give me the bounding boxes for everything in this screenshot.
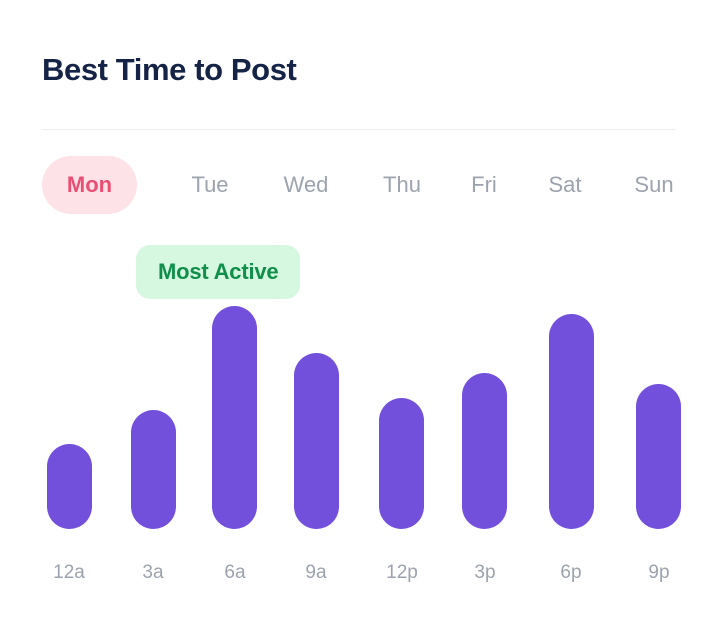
x-tick-6p: 6p: [536, 562, 606, 584]
bar-12p[interactable]: [379, 398, 424, 529]
bar-6p[interactable]: [549, 314, 594, 529]
bar-3p[interactable]: [462, 373, 507, 529]
x-tick-9a: 9a: [281, 562, 351, 584]
best-time-to-post-card: Best Time to Post Mon Tue Wed Thu Fri Sa…: [4, 4, 711, 634]
x-tick-6a: 6a: [200, 562, 270, 584]
best-time-bar-chart: 12a 3a 6a 9a 12p 3p 6p 9p: [4, 4, 711, 634]
x-tick-3p: 3p: [450, 562, 520, 584]
x-tick-12a: 12a: [34, 562, 104, 584]
bar-9p[interactable]: [636, 384, 681, 529]
bar-9a[interactable]: [294, 353, 339, 529]
bar-12a[interactable]: [47, 444, 92, 529]
bar-3a[interactable]: [131, 410, 176, 529]
x-tick-12p: 12p: [367, 562, 437, 584]
bar-6a[interactable]: [212, 306, 257, 529]
x-tick-3a: 3a: [118, 562, 188, 584]
x-tick-9p: 9p: [624, 562, 694, 584]
